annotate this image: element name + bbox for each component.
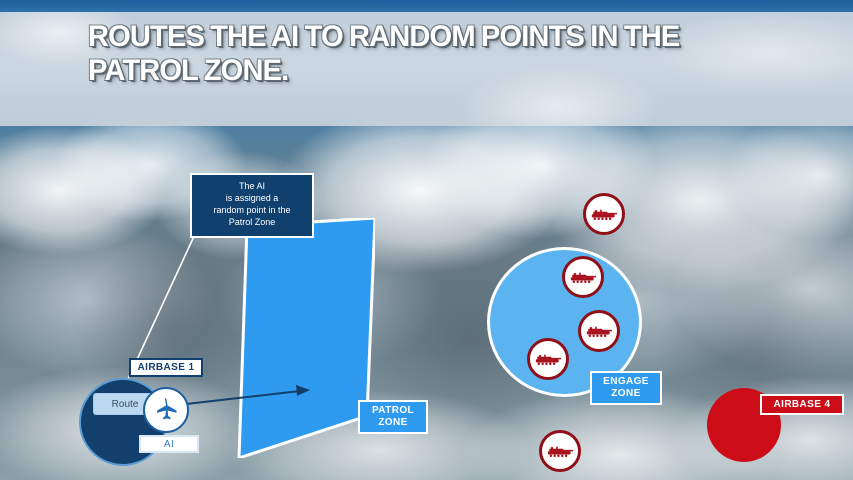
airbase-1-label[interactable]: AIRBASE 1 <box>129 358 203 377</box>
fighter-jet-icon[interactable] <box>143 387 189 433</box>
patrol-zone-callout: The AI is assigned a random point in the… <box>190 173 314 238</box>
callout-line-3: random point in the <box>198 205 306 217</box>
callout-line-2: is assigned a <box>198 193 306 205</box>
tank-icon[interactable] <box>583 193 625 235</box>
tank-icon[interactable] <box>562 256 604 298</box>
tank-icon[interactable] <box>527 338 569 380</box>
engage-zone-label-line1: ENGAGE <box>603 376 649 389</box>
tank-icon[interactable] <box>539 430 581 472</box>
engage-zone-label-line2: ZONE <box>611 388 640 401</box>
patrol-zone-label-line1: PATROL <box>372 405 414 418</box>
diagram-canvas: The AI is assigned a random point in the… <box>0 0 853 480</box>
patrol-zone-polygon[interactable] <box>215 218 375 458</box>
tank-icon[interactable] <box>578 310 620 352</box>
engage-zone-label[interactable]: ENGAGE ZONE <box>590 371 662 405</box>
callout-line-4: Patrol Zone <box>198 217 306 229</box>
patrol-zone-label-line2: ZONE <box>378 417 407 430</box>
airbase-4-label[interactable]: AIRBASE 4 <box>760 394 844 415</box>
callout-line-1: The AI <box>198 181 306 193</box>
ai-label[interactable]: AI <box>139 435 199 453</box>
presentation-slide: ROUTES THE AI TO RANDOM POINTS IN THE PA… <box>0 0 853 480</box>
patrol-zone-label[interactable]: PATROL ZONE <box>358 400 428 434</box>
